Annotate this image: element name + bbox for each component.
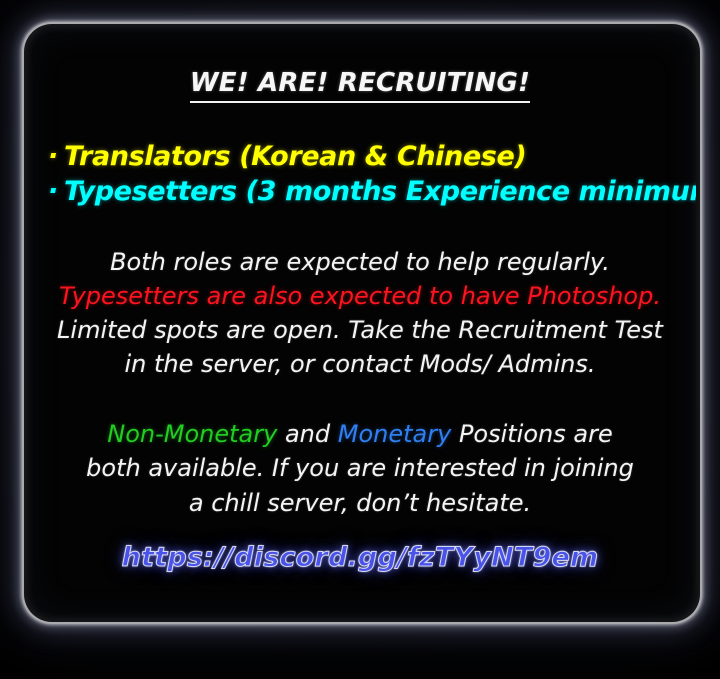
requirements-line-photoshop: Typesetters are also expected to have Ph… (24, 279, 696, 313)
paragraph-requirements: Both roles are expected to help regularl… (24, 245, 696, 381)
requirements-line-3: Limited spots are open. Take the Recruit… (24, 313, 696, 347)
discord-invite-link[interactable]: https://discord.gg/fzTYyNT9em (122, 542, 599, 573)
role-label-translators: Translators (Korean & Chinese) (64, 141, 526, 172)
requirements-line-1: Both roles are expected to help regularl… (24, 245, 696, 279)
positions-line-2: both available. If you are interested in… (24, 451, 696, 485)
positions-monetary-label: Monetary (338, 420, 452, 448)
poster-content: WE! ARE! RECRUITING! ·Translators (Korea… (24, 24, 696, 618)
positions-conjunction: and (277, 420, 337, 448)
list-item-translators: ·Translators (Korean & Chinese) (48, 140, 696, 175)
bullet-marker-icon: · (48, 175, 64, 210)
page-title: WE! ARE! RECRUITING! (190, 68, 530, 103)
roles-list: ·Translators (Korean & Chinese) ·Typeset… (48, 140, 696, 209)
role-label-typesetters: Typesetters (3 months Experience minimum… (64, 176, 696, 207)
recruitment-poster: WE! ARE! RECRUITING! ·Translators (Korea… (0, 0, 720, 679)
positions-non-monetary-label: Non-Monetary (107, 420, 277, 448)
bullet-marker-icon: · (48, 140, 64, 175)
paragraph-positions: Non-Monetary and Monetary Positions are … (24, 417, 696, 519)
title-row: WE! ARE! RECRUITING! (24, 68, 696, 103)
link-row: https://discord.gg/fzTYyNT9em (24, 542, 696, 573)
positions-line-3: a chill server, don’t hesitate. (24, 486, 696, 520)
positions-line-1-end: Positions are (451, 420, 612, 448)
positions-line-1: Non-Monetary and Monetary Positions are (24, 417, 696, 451)
list-item-typesetters: ·Typesetters (3 months Experience minimu… (48, 175, 696, 210)
requirements-line-4: in the server, or contact Mods/ Admins. (24, 347, 696, 381)
